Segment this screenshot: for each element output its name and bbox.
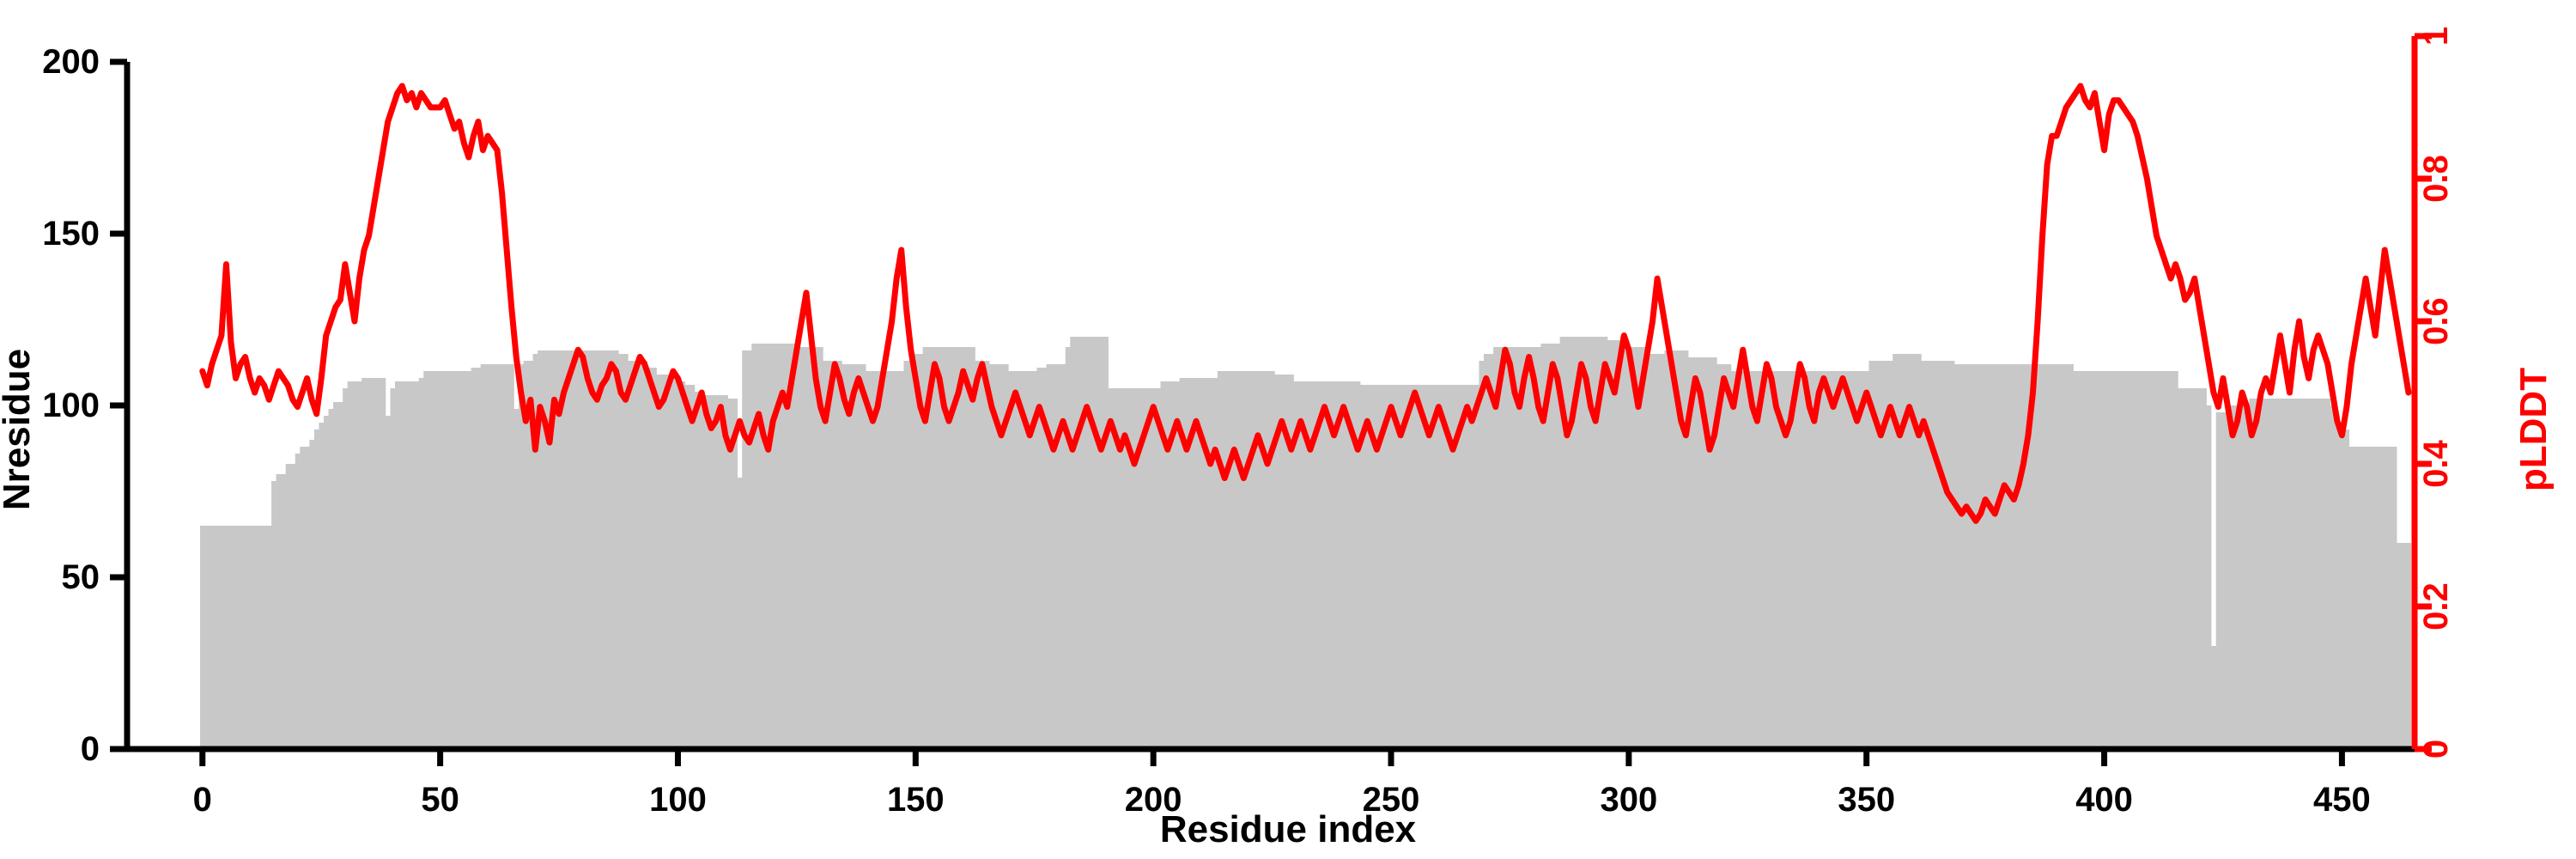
bar xyxy=(2301,399,2306,749)
bar xyxy=(267,526,272,749)
bar xyxy=(2344,429,2349,749)
bar xyxy=(1741,371,1746,749)
bar xyxy=(1864,371,1869,749)
bar xyxy=(1626,347,1631,749)
bar xyxy=(1992,364,1997,749)
bar xyxy=(205,526,210,749)
bar xyxy=(704,395,709,749)
bar xyxy=(1826,371,1832,749)
bar xyxy=(404,381,410,749)
bar xyxy=(1969,364,1974,749)
bar xyxy=(837,361,842,749)
bar xyxy=(2069,364,2074,749)
bar xyxy=(732,399,738,749)
bar xyxy=(219,526,224,749)
bar xyxy=(390,388,395,749)
bar xyxy=(1655,354,1660,749)
bar xyxy=(2359,447,2364,749)
bar xyxy=(985,361,990,749)
bar xyxy=(1926,361,1931,749)
bar xyxy=(224,526,229,749)
bar xyxy=(1954,364,1959,749)
bar xyxy=(2354,447,2359,749)
bar xyxy=(1236,371,1242,749)
bar xyxy=(719,395,724,749)
bar xyxy=(2216,412,2221,749)
bar xyxy=(447,371,453,749)
bar xyxy=(281,474,286,749)
x-axis-tick-label: 0 xyxy=(193,781,212,819)
bar xyxy=(871,371,876,749)
bar xyxy=(933,347,938,749)
bar xyxy=(1227,371,1232,749)
x-axis-title: Residue index xyxy=(1160,808,1417,850)
bar xyxy=(842,364,848,749)
bar xyxy=(2116,371,2121,749)
bar xyxy=(1298,381,1303,749)
bar xyxy=(1422,385,1427,749)
bar xyxy=(290,464,295,749)
bar xyxy=(1327,381,1332,749)
x-axis-tick-label: 350 xyxy=(1838,781,1895,819)
y-axis-right-tick-label: 0.4 xyxy=(2417,439,2455,487)
bar xyxy=(410,381,415,749)
bar xyxy=(1997,364,2002,749)
bar xyxy=(690,385,695,749)
bar xyxy=(2349,447,2354,749)
bar xyxy=(1089,337,1094,749)
bar xyxy=(1579,337,1584,749)
bar xyxy=(914,354,919,749)
bar xyxy=(2325,399,2330,749)
bar xyxy=(1094,337,1099,749)
bar xyxy=(252,526,258,749)
bar xyxy=(1797,371,1802,749)
bar xyxy=(657,375,662,749)
bar xyxy=(2012,364,2017,749)
bar xyxy=(1831,371,1836,749)
bar xyxy=(2125,371,2130,749)
bar xyxy=(1941,361,1946,749)
bar xyxy=(1242,371,1247,749)
bar xyxy=(770,344,775,749)
bar xyxy=(1441,385,1446,749)
bar xyxy=(371,378,376,749)
bar xyxy=(1103,337,1109,749)
bar xyxy=(1437,385,1442,749)
bar xyxy=(1759,371,1765,749)
bar xyxy=(880,371,885,749)
bar xyxy=(2235,405,2240,749)
bar xyxy=(309,440,314,749)
bar xyxy=(1859,371,1864,749)
bar xyxy=(666,375,671,749)
y-axis-right-tick-label: 1 xyxy=(2417,27,2455,46)
bar xyxy=(714,395,719,749)
bar xyxy=(395,381,400,749)
bar xyxy=(2330,405,2336,749)
bar xyxy=(742,350,747,749)
bar xyxy=(1664,350,1669,749)
bar xyxy=(1669,350,1674,749)
bar xyxy=(2207,405,2212,749)
bar xyxy=(1037,368,1042,749)
bar xyxy=(1612,340,1617,749)
bar xyxy=(2382,447,2387,749)
bar xyxy=(1855,371,1860,749)
bar xyxy=(2040,364,2045,749)
bar xyxy=(2368,447,2373,749)
bar xyxy=(1336,381,1341,749)
bar xyxy=(699,392,704,749)
bar xyxy=(1403,385,1408,749)
bar xyxy=(2074,371,2079,749)
bar xyxy=(438,371,443,749)
bar xyxy=(423,371,428,749)
bar xyxy=(642,361,647,749)
y-axis-right-title: pLDDT xyxy=(2512,368,2555,491)
bar xyxy=(1973,364,1978,749)
bar xyxy=(495,364,500,749)
bar xyxy=(618,354,623,749)
bar xyxy=(1879,361,1884,749)
bar xyxy=(2097,371,2102,749)
bar xyxy=(852,364,857,749)
bar xyxy=(361,378,367,749)
y-axis-left-tick-label: 50 xyxy=(62,558,100,596)
bar xyxy=(647,368,652,749)
bar xyxy=(866,371,871,749)
bar xyxy=(2259,399,2264,749)
bar xyxy=(2044,364,2050,749)
bar xyxy=(2164,371,2169,749)
bar xyxy=(1084,337,1090,749)
bar xyxy=(1208,378,1213,749)
y-axis-left-tick-label: 150 xyxy=(42,215,100,253)
bar xyxy=(956,347,961,749)
bar xyxy=(633,361,638,749)
bar xyxy=(1270,371,1275,749)
bar xyxy=(490,364,495,749)
y-axis-right-tick-label: 0.6 xyxy=(2417,297,2455,345)
bar xyxy=(466,371,471,749)
bar xyxy=(1988,364,1993,749)
bar xyxy=(200,526,205,749)
bar xyxy=(257,526,262,749)
bar xyxy=(1394,385,1399,749)
bar xyxy=(367,378,372,749)
bar xyxy=(2402,543,2407,749)
bar xyxy=(2245,405,2250,749)
x-axis-tick-label: 150 xyxy=(887,781,945,819)
bar xyxy=(566,350,571,749)
bar xyxy=(1735,371,1741,749)
bar xyxy=(2263,399,2269,749)
bar xyxy=(2297,399,2302,749)
bar xyxy=(1693,357,1698,749)
bar xyxy=(1341,381,1346,749)
bar xyxy=(575,350,580,749)
bar xyxy=(2149,371,2154,749)
bar xyxy=(1109,388,1114,749)
bar xyxy=(2387,447,2392,749)
bar xyxy=(1460,385,1465,749)
bar xyxy=(2007,364,2012,749)
bar xyxy=(980,361,985,749)
bar xyxy=(590,350,595,749)
bar xyxy=(1066,347,1071,749)
bar xyxy=(481,364,486,749)
bar xyxy=(1075,337,1080,749)
bar xyxy=(1817,371,1822,749)
bar xyxy=(2159,371,2164,749)
bar xyxy=(2192,388,2197,749)
bar xyxy=(2154,371,2160,749)
x-axis-tick-label: 100 xyxy=(649,781,707,819)
bar xyxy=(457,371,462,749)
bar xyxy=(2226,412,2231,749)
bar xyxy=(2292,399,2297,749)
bar xyxy=(1384,385,1389,749)
bar xyxy=(1602,337,1607,749)
bar xyxy=(2249,399,2254,749)
bar xyxy=(1793,371,1798,749)
bar xyxy=(1218,371,1223,749)
bar xyxy=(2316,399,2321,749)
bar xyxy=(1774,371,1779,749)
chart-figure: 050100150200 050100150200250300350400450… xyxy=(0,0,2576,859)
bar xyxy=(380,378,386,749)
x-axis-tick-label: 450 xyxy=(2313,781,2371,819)
bar xyxy=(1840,371,1845,749)
y-axis-right-tick-label: 0 xyxy=(2417,740,2455,758)
bar xyxy=(1935,361,1941,749)
bar xyxy=(2287,399,2293,749)
bar xyxy=(761,344,766,749)
bar xyxy=(305,447,310,749)
bar xyxy=(314,429,319,749)
bar xyxy=(1746,371,1751,749)
bar xyxy=(903,361,908,749)
bar xyxy=(1650,354,1656,749)
bar xyxy=(513,409,519,749)
bar xyxy=(2397,543,2402,749)
bar xyxy=(2021,364,2026,749)
bar xyxy=(1707,357,1712,749)
bar xyxy=(1261,371,1266,749)
bar xyxy=(1232,371,1237,749)
bar xyxy=(2035,364,2040,749)
bar xyxy=(1821,371,1826,749)
bar xyxy=(2239,405,2245,749)
bar xyxy=(2363,447,2368,749)
bar xyxy=(975,361,981,749)
bar xyxy=(234,526,239,749)
bar xyxy=(809,347,814,749)
bar xyxy=(1959,364,1965,749)
bar xyxy=(766,344,771,749)
bar xyxy=(504,364,509,749)
bar xyxy=(2211,646,2216,749)
bar xyxy=(2392,447,2397,749)
bar xyxy=(1564,337,1570,749)
bar xyxy=(1465,385,1470,749)
bar xyxy=(2406,543,2411,749)
y-axis-left-title: Nresidue xyxy=(0,349,38,510)
bar xyxy=(419,378,424,749)
bar xyxy=(605,350,610,749)
bar xyxy=(1898,354,1903,749)
dual-axis-bar-line-chart: 050100150200 050100150200250300350400450… xyxy=(0,0,2576,859)
bar xyxy=(471,368,477,749)
bar xyxy=(1750,371,1755,749)
bar xyxy=(1551,344,1556,749)
bar xyxy=(1660,354,1665,749)
bar xyxy=(2083,371,2088,749)
bar xyxy=(357,381,362,749)
bar xyxy=(1246,371,1251,749)
x-axis-tick-label: 300 xyxy=(1600,781,1657,819)
bar xyxy=(1622,340,1627,749)
bar xyxy=(671,375,676,749)
bar xyxy=(1836,371,1841,749)
bar xyxy=(2273,399,2278,749)
bar xyxy=(1726,364,1731,749)
bar xyxy=(462,371,467,749)
bar xyxy=(2087,371,2093,749)
bar xyxy=(685,385,690,749)
bar xyxy=(348,381,353,749)
bar xyxy=(884,371,890,749)
bar xyxy=(1413,385,1418,749)
bar xyxy=(1645,354,1650,749)
y-axis-right-tick-label: 0.2 xyxy=(2417,582,2455,631)
bar xyxy=(276,474,282,749)
bar xyxy=(1769,371,1774,749)
bar xyxy=(262,526,267,749)
bar xyxy=(1070,337,1075,749)
bar xyxy=(1365,385,1370,749)
bar xyxy=(580,350,586,749)
y-axis-left-tick-label: 100 xyxy=(42,387,100,424)
bar xyxy=(414,381,419,749)
bar xyxy=(2221,412,2226,749)
bar xyxy=(1175,381,1180,749)
bar xyxy=(890,371,895,749)
bar xyxy=(1527,347,1532,749)
bar xyxy=(1346,381,1351,749)
bar xyxy=(1018,371,1023,749)
bar xyxy=(2016,364,2021,749)
bar xyxy=(1964,364,1969,749)
bar xyxy=(1807,371,1813,749)
bar xyxy=(1474,385,1479,749)
bar xyxy=(2306,399,2312,749)
bar xyxy=(1731,371,1736,749)
bar xyxy=(300,447,305,749)
bar xyxy=(586,350,591,749)
bar xyxy=(738,478,743,749)
bar xyxy=(970,347,975,749)
bar xyxy=(751,344,756,749)
bar xyxy=(1388,385,1394,749)
bar xyxy=(1289,375,1294,749)
bar xyxy=(832,361,837,749)
y-axis-right-tick-label: 0.8 xyxy=(2417,155,2455,203)
bar xyxy=(1983,364,1988,749)
bar xyxy=(2282,399,2287,749)
bar xyxy=(1317,381,1322,749)
bar xyxy=(599,350,605,749)
bar xyxy=(628,361,633,749)
bar xyxy=(804,347,809,749)
bar xyxy=(452,371,457,749)
bar xyxy=(847,364,852,749)
bar xyxy=(1184,378,1189,749)
bar xyxy=(210,526,215,749)
bar xyxy=(794,344,799,749)
bar xyxy=(1489,354,1494,749)
bar xyxy=(2321,399,2326,749)
bar xyxy=(1146,388,1151,749)
bar xyxy=(1522,347,1527,749)
bar xyxy=(1722,364,1727,749)
bar xyxy=(1845,371,1850,749)
bar xyxy=(2145,371,2150,749)
y-axis-left-tick-label: 0 xyxy=(81,730,100,768)
bar xyxy=(295,454,301,749)
bar xyxy=(329,409,334,749)
bar xyxy=(661,375,666,749)
bar xyxy=(343,388,348,749)
bar xyxy=(352,381,357,749)
x-axis-tick-label: 400 xyxy=(2075,781,2133,819)
bar xyxy=(1945,361,1950,749)
bar xyxy=(961,347,966,749)
bar xyxy=(1322,381,1327,749)
bar xyxy=(2050,364,2055,749)
bar xyxy=(243,526,248,749)
bar xyxy=(2106,371,2111,749)
bar xyxy=(215,526,220,749)
bar xyxy=(286,464,291,749)
bar xyxy=(238,526,243,749)
bar xyxy=(2372,447,2378,749)
bar xyxy=(1978,364,1984,749)
bar xyxy=(485,364,490,749)
bar xyxy=(2178,388,2183,749)
bar xyxy=(2059,364,2064,749)
bar xyxy=(1008,371,1013,749)
bar xyxy=(2230,405,2235,749)
bar xyxy=(1407,385,1413,749)
bar xyxy=(899,371,904,749)
bar xyxy=(2102,371,2107,749)
bar xyxy=(2269,399,2274,749)
bar xyxy=(1930,361,1935,749)
bar xyxy=(2278,399,2283,749)
bar xyxy=(1079,337,1084,749)
bar xyxy=(1212,378,1218,749)
bar xyxy=(2340,423,2345,749)
bar xyxy=(2378,447,2383,749)
bar xyxy=(376,378,381,749)
bar xyxy=(1051,364,1056,749)
bar xyxy=(1850,371,1855,749)
bar xyxy=(1013,371,1018,749)
bar xyxy=(2335,416,2340,749)
bar xyxy=(2202,388,2207,749)
